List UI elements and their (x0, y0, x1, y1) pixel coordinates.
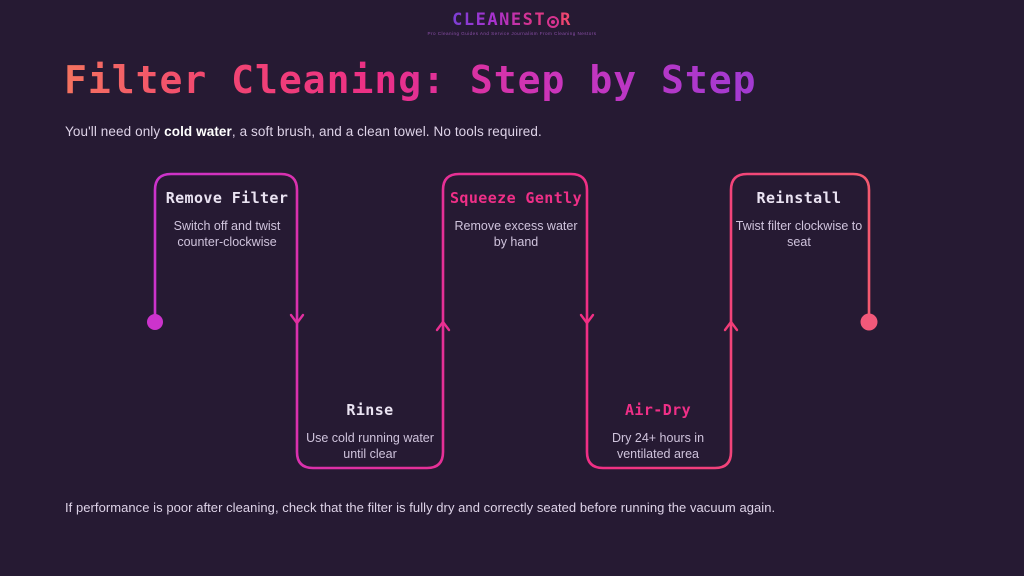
step-description: Switch off and twist counter-clockwise (160, 218, 294, 251)
flow-step-rinse: Rinse Use cold running water until clear (302, 400, 438, 462)
step-title: Air-Dry (592, 400, 724, 422)
flow-step-squeeze-gently: Squeeze Gently Remove excess water by ha… (448, 188, 584, 250)
step-title: Squeeze Gently (448, 188, 584, 210)
step-title: Rinse (302, 400, 438, 422)
flow-step-air-dry: Air-Dry Dry 24+ hours in ventilated area (592, 400, 724, 462)
step-description: Dry 24+ hours in ventilated area (592, 430, 724, 463)
step-description: Twist filter clockwise to seat (734, 218, 864, 251)
step-title: Reinstall (734, 188, 864, 210)
end-dot (861, 314, 878, 331)
flow-step-reinstall: Reinstall Twist filter clockwise to seat (734, 188, 864, 250)
flow-step-remove-filter: Remove Filter Switch off and twist count… (160, 188, 294, 250)
footer-note: If performance is poor after cleaning, c… (65, 500, 775, 515)
step-description: Use cold running water until clear (302, 430, 438, 463)
start-dot (147, 314, 163, 330)
step-title: Remove Filter (160, 188, 294, 210)
step-description: Remove excess water by hand (448, 218, 584, 251)
infographic-canvas: CLEANESTR Pro Cleaning Guides And Servic… (0, 0, 1024, 576)
flow-diagram (0, 0, 1024, 576)
